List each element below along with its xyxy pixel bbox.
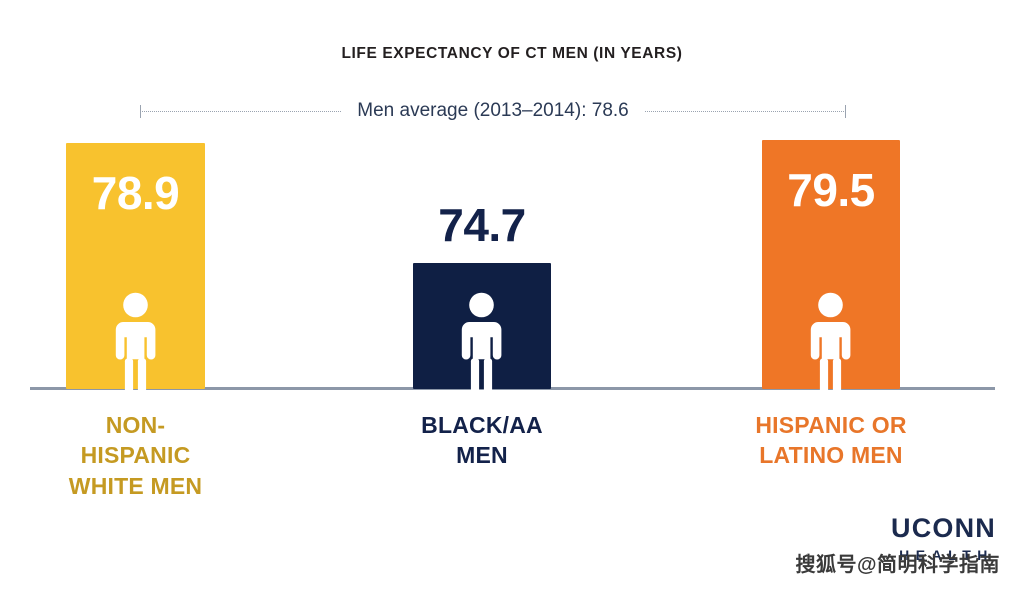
average-line-right bbox=[645, 105, 846, 118]
average-line-left bbox=[140, 105, 341, 118]
category-label-line: HISPANIC bbox=[36, 440, 235, 470]
category-label-line: NON- bbox=[36, 410, 235, 440]
chart-title: LIFE EXPECTANCY OF CT MEN (IN YEARS) bbox=[0, 45, 1024, 63]
category-label-non-hispanic-white-men: NON- HISPANIC WHITE MEN bbox=[36, 410, 235, 501]
category-label-line: WHITE MEN bbox=[36, 471, 235, 501]
person-icon-hispanic-or-latino-men bbox=[809, 292, 852, 397]
category-label-hispanic-or-latino-men: HISPANIC OR LATINO MEN bbox=[722, 410, 940, 471]
bar-group: 78.9 NON- HISPANIC WHITE MEN 74.7 bbox=[0, 0, 1024, 591]
bar-value-black-aa-men: 74.7 bbox=[413, 202, 551, 248]
average-line-left-dots bbox=[140, 111, 341, 112]
bar-black-aa-men[interactable] bbox=[413, 263, 551, 389]
person-icon-non-hispanic-white-men bbox=[114, 292, 157, 397]
category-label-line: BLACK/AA bbox=[382, 410, 582, 440]
average-line-right-dots bbox=[645, 111, 846, 112]
bar-non-hispanic-white-men[interactable] bbox=[66, 143, 205, 389]
category-label-line: LATINO MEN bbox=[722, 440, 940, 470]
bar-hispanic-or-latino-men[interactable] bbox=[762, 140, 900, 389]
bar-value-non-hispanic-white-men: 78.9 bbox=[66, 170, 205, 216]
category-label-line: HISPANIC OR bbox=[722, 410, 940, 440]
average-line-right-cap bbox=[845, 105, 846, 118]
average-label: Men average (2013–2014): 78.6 bbox=[341, 100, 644, 122]
bar-value-hispanic-or-latino-men: 79.5 bbox=[762, 167, 900, 213]
category-label-black-aa-men: BLACK/AA MEN bbox=[382, 410, 582, 471]
watermark-text: 搜狐号@简明科学指南 bbox=[795, 548, 1000, 577]
axis-baseline bbox=[30, 387, 995, 390]
logo-uconn-text: UCONN bbox=[891, 515, 996, 542]
infographic-canvas: LIFE EXPECTANCY OF CT MEN (IN YEARS) Men… bbox=[0, 0, 1024, 591]
average-annotation: Men average (2013–2014): 78.6 bbox=[140, 96, 846, 126]
category-label-line: MEN bbox=[382, 440, 582, 470]
person-icon-black-aa-men bbox=[460, 292, 503, 397]
